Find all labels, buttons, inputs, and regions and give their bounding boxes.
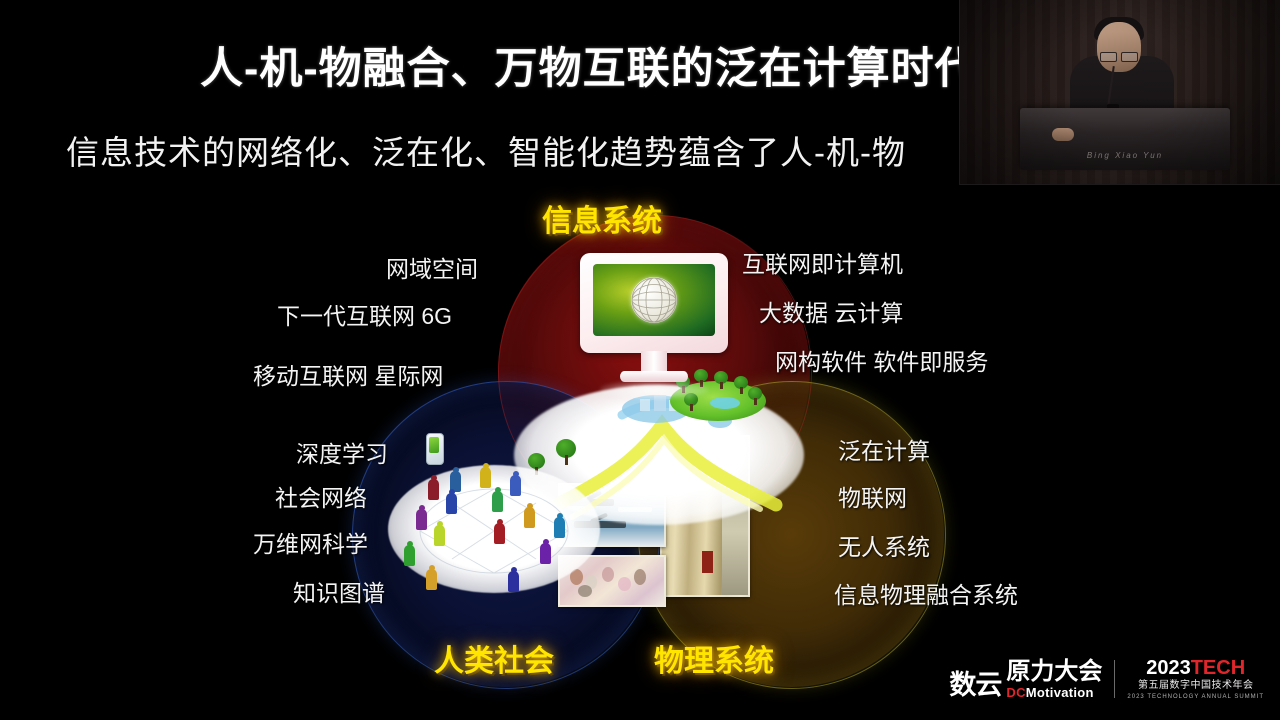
venn-caption-human-society: 人类社会 (434, 636, 554, 680)
slide-canvas: 人-机-物融合、万物互联的泛在计算时代 信息技术的网络化、泛在化、智能化趋势蕴含… (0, 0, 1280, 720)
keyword-bottom-left-2: 社会网络 (275, 479, 367, 513)
page-title: 人-机-物融合、万物互联的泛在计算时代 (200, 34, 979, 96)
keyword-bottom-left-3: 万维网科学 (253, 525, 368, 559)
keyword-top-left-3: 移动互联网 星际网 (253, 357, 443, 391)
event-logo-tech-summit: 2023TECH 第五届数字中国技术年会 2023 TECHNOLOGY ANN… (1127, 658, 1264, 700)
conference-logos: 数云 原力大会 DCMotivation 2023TECH 第五届数字中国技术年… (949, 654, 1264, 704)
brand-cn-1: 数云 (949, 672, 1001, 699)
keyword-bottom-right-4: 信息物理融合系统 (834, 576, 1018, 610)
keyword-top-left-1: 网域空间 (386, 250, 478, 284)
brand-en-motivation: Motivation (1026, 685, 1094, 700)
keyword-top-right-3: 网构软件 软件即服务 (775, 343, 988, 377)
page-subtitle: 信息技术的网络化、泛在化、智能化趋势蕴含了人-机-物 (66, 126, 906, 174)
venn-caption-physical-system: 物理系统 (654, 636, 774, 680)
keyword-bottom-left-4: 知识图谱 (293, 574, 385, 608)
brand-logo-dcmotivation: 数云 原力大会 DCMotivation (949, 660, 1102, 699)
event-cn-name: 第五届数字中国技术年会 (1138, 681, 1254, 691)
brand-cn-2: 原力大会 (1006, 660, 1102, 684)
pip-vignette (960, 0, 1280, 184)
social-network-people (388, 465, 600, 593)
brand-en-dc: DC (1006, 685, 1025, 700)
logo-divider (1114, 660, 1115, 698)
speaker-video-overlay[interactable]: Bing Xiao Yun (959, 0, 1280, 185)
keyword-bottom-right-2: 物联网 (838, 479, 907, 513)
monitor-globe-icon (580, 253, 728, 393)
event-year: 2023 (1146, 657, 1191, 679)
event-tag: TECH (1191, 657, 1245, 679)
keyword-top-right-1: 互联网即计算机 (742, 245, 903, 279)
keyword-top-left-2: 下一代互联网 6G (277, 297, 452, 331)
event-en-name: 2023 TECHNOLOGY ANNUAL SUMMIT (1127, 694, 1264, 700)
foreground-tree (556, 439, 576, 465)
venn-caption-information-system: 信息系统 (542, 196, 662, 240)
keyword-top-right-2: 大数据 云计算 (759, 294, 903, 328)
keyword-bottom-right-1: 泛在计算 (838, 432, 930, 466)
keyword-bottom-right-3: 无人系统 (838, 528, 930, 562)
mobile-phone-icon (426, 433, 444, 465)
keyword-bottom-left-1: 深度学习 (296, 435, 388, 469)
